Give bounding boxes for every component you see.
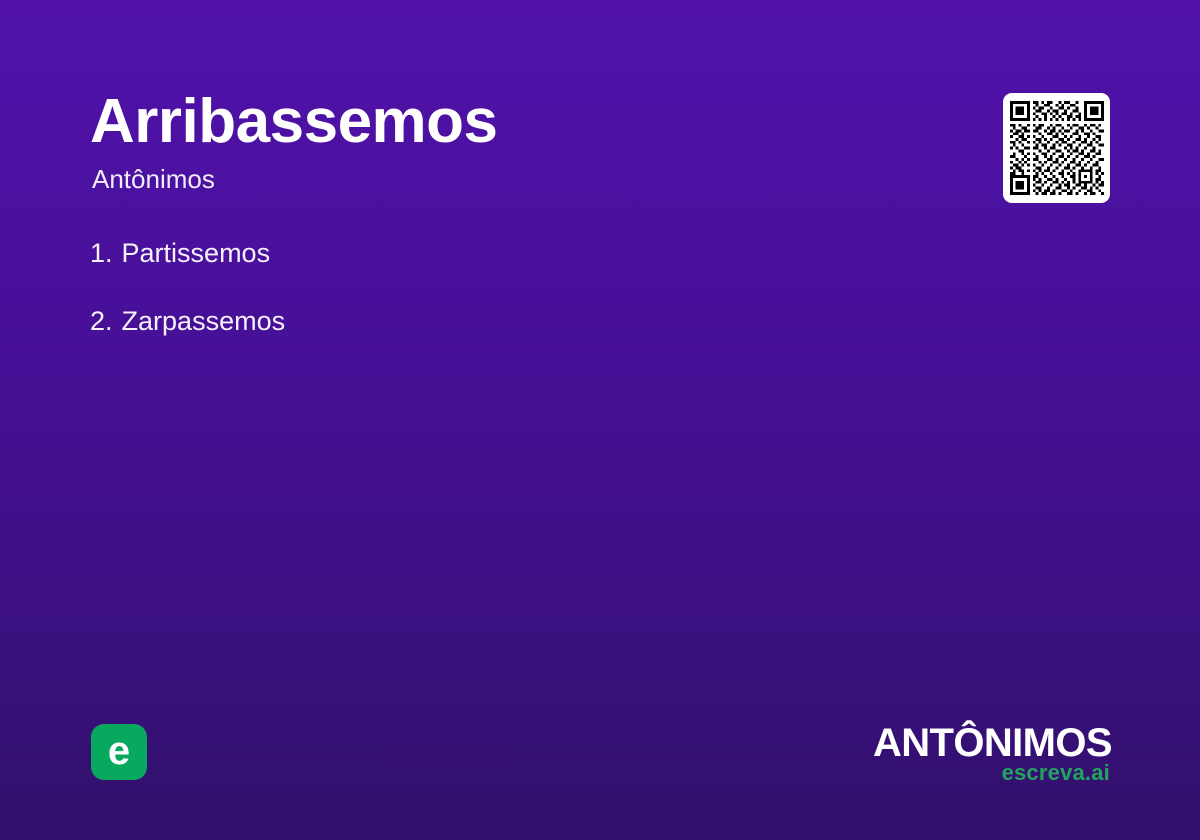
page-title: Arribassemos bbox=[90, 88, 930, 156]
list-item-index: 2. bbox=[90, 304, 113, 338]
list-item: 2. Zarpassemos bbox=[90, 304, 910, 338]
antonym-list: 1. Partissemos 2. Zarpassemos bbox=[90, 236, 910, 372]
qr-code-panel[interactable] bbox=[1003, 93, 1110, 203]
brand-logo-title: ANTÔNIMOS bbox=[852, 722, 1112, 764]
list-item-label: Partissemos bbox=[122, 236, 271, 270]
antonyms-word-card: Arribassemos Antônimos 1. Partissemos 2.… bbox=[0, 0, 1200, 840]
list-item-index: 1. bbox=[90, 236, 113, 270]
header: Arribassemos Antônimos bbox=[90, 88, 930, 194]
page-subtitle: Antônimos bbox=[92, 164, 930, 194]
antonimos-brand-logo: ANTÔNIMOS escreva.ai bbox=[852, 722, 1112, 785]
list-item-label: Zarpassemos bbox=[122, 304, 286, 338]
list-item: 1. Partissemos bbox=[90, 236, 910, 270]
escreva-logo-badge[interactable]: e bbox=[91, 724, 147, 780]
escreva-e-icon: e bbox=[108, 731, 130, 771]
qr-code-icon bbox=[1010, 101, 1104, 195]
